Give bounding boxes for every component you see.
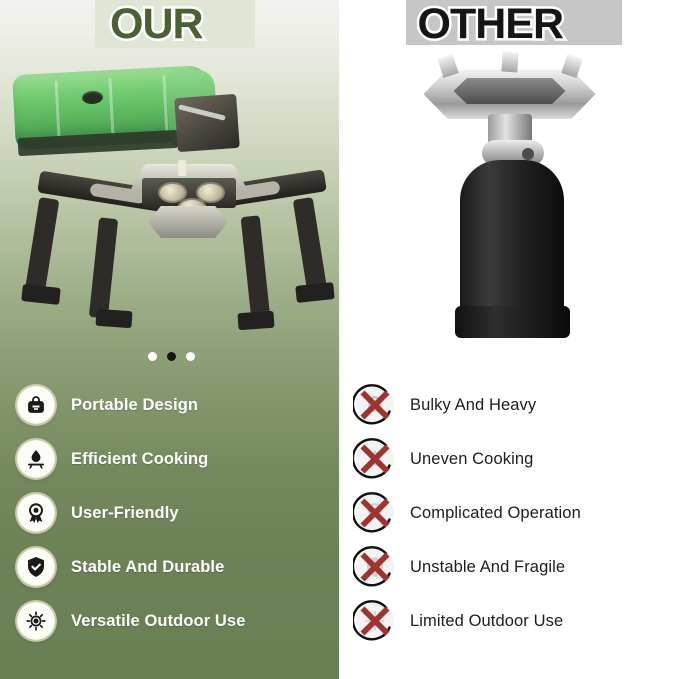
drawback-label: Uneven Cooking bbox=[410, 450, 533, 469]
drawback-label: Unstable And Fragile bbox=[410, 558, 565, 577]
our-carousel-dots[interactable] bbox=[148, 352, 195, 361]
stove-leg-2 bbox=[89, 217, 118, 318]
other-stove-knob-dot bbox=[522, 148, 534, 160]
comparison-board: OUR bbox=[0, 0, 679, 679]
stove-burner-stem bbox=[178, 160, 186, 176]
stove-burner-body bbox=[142, 178, 236, 208]
stove-hex-base bbox=[148, 206, 228, 238]
stove-leg-3 bbox=[241, 215, 271, 320]
our-product-photo bbox=[0, 48, 339, 338]
shield-check-crossed-icon bbox=[356, 548, 394, 586]
drawback-row-complicated-operation: Complicated Operation bbox=[0, 486, 679, 540]
portable-stove-crossed-icon bbox=[356, 386, 394, 424]
other-feature-list: Bulky And Heavy Uneven Cooking bbox=[0, 378, 679, 648]
stove-leg-4 bbox=[293, 197, 327, 293]
drawback-row-bulky-heavy: Bulky And Heavy bbox=[0, 378, 679, 432]
other-title: OTHER bbox=[418, 2, 564, 46]
drawback-label: Limited Outdoor Use bbox=[410, 612, 563, 631]
drawback-label: Complicated Operation bbox=[410, 504, 581, 523]
drawback-label: Bulky And Heavy bbox=[410, 396, 536, 415]
carousel-dot-3[interactable] bbox=[186, 352, 195, 361]
drawback-row-unstable-fragile: Unstable And Fragile bbox=[0, 540, 679, 594]
other-stove-burner-plate bbox=[454, 78, 566, 104]
carousel-dot-1[interactable] bbox=[148, 352, 157, 361]
drawback-row-uneven-cooking: Uneven Cooking bbox=[0, 432, 679, 486]
stove-valve-assembly bbox=[174, 94, 240, 152]
other-stove-cylinder-base bbox=[455, 306, 570, 338]
stove-leg-1 bbox=[25, 197, 60, 295]
our-title: OUR bbox=[110, 2, 203, 46]
award-ribbon-crossed-icon bbox=[356, 494, 394, 532]
other-stove-propane-cylinder bbox=[460, 160, 564, 320]
carousel-dot-2-active[interactable] bbox=[167, 352, 176, 361]
gear-sun-crossed-icon bbox=[356, 602, 394, 640]
other-product-photo bbox=[400, 48, 620, 338]
drawback-row-limited-outdoor: Limited Outdoor Use bbox=[0, 594, 679, 648]
flame-burner-crossed-icon bbox=[356, 440, 394, 478]
